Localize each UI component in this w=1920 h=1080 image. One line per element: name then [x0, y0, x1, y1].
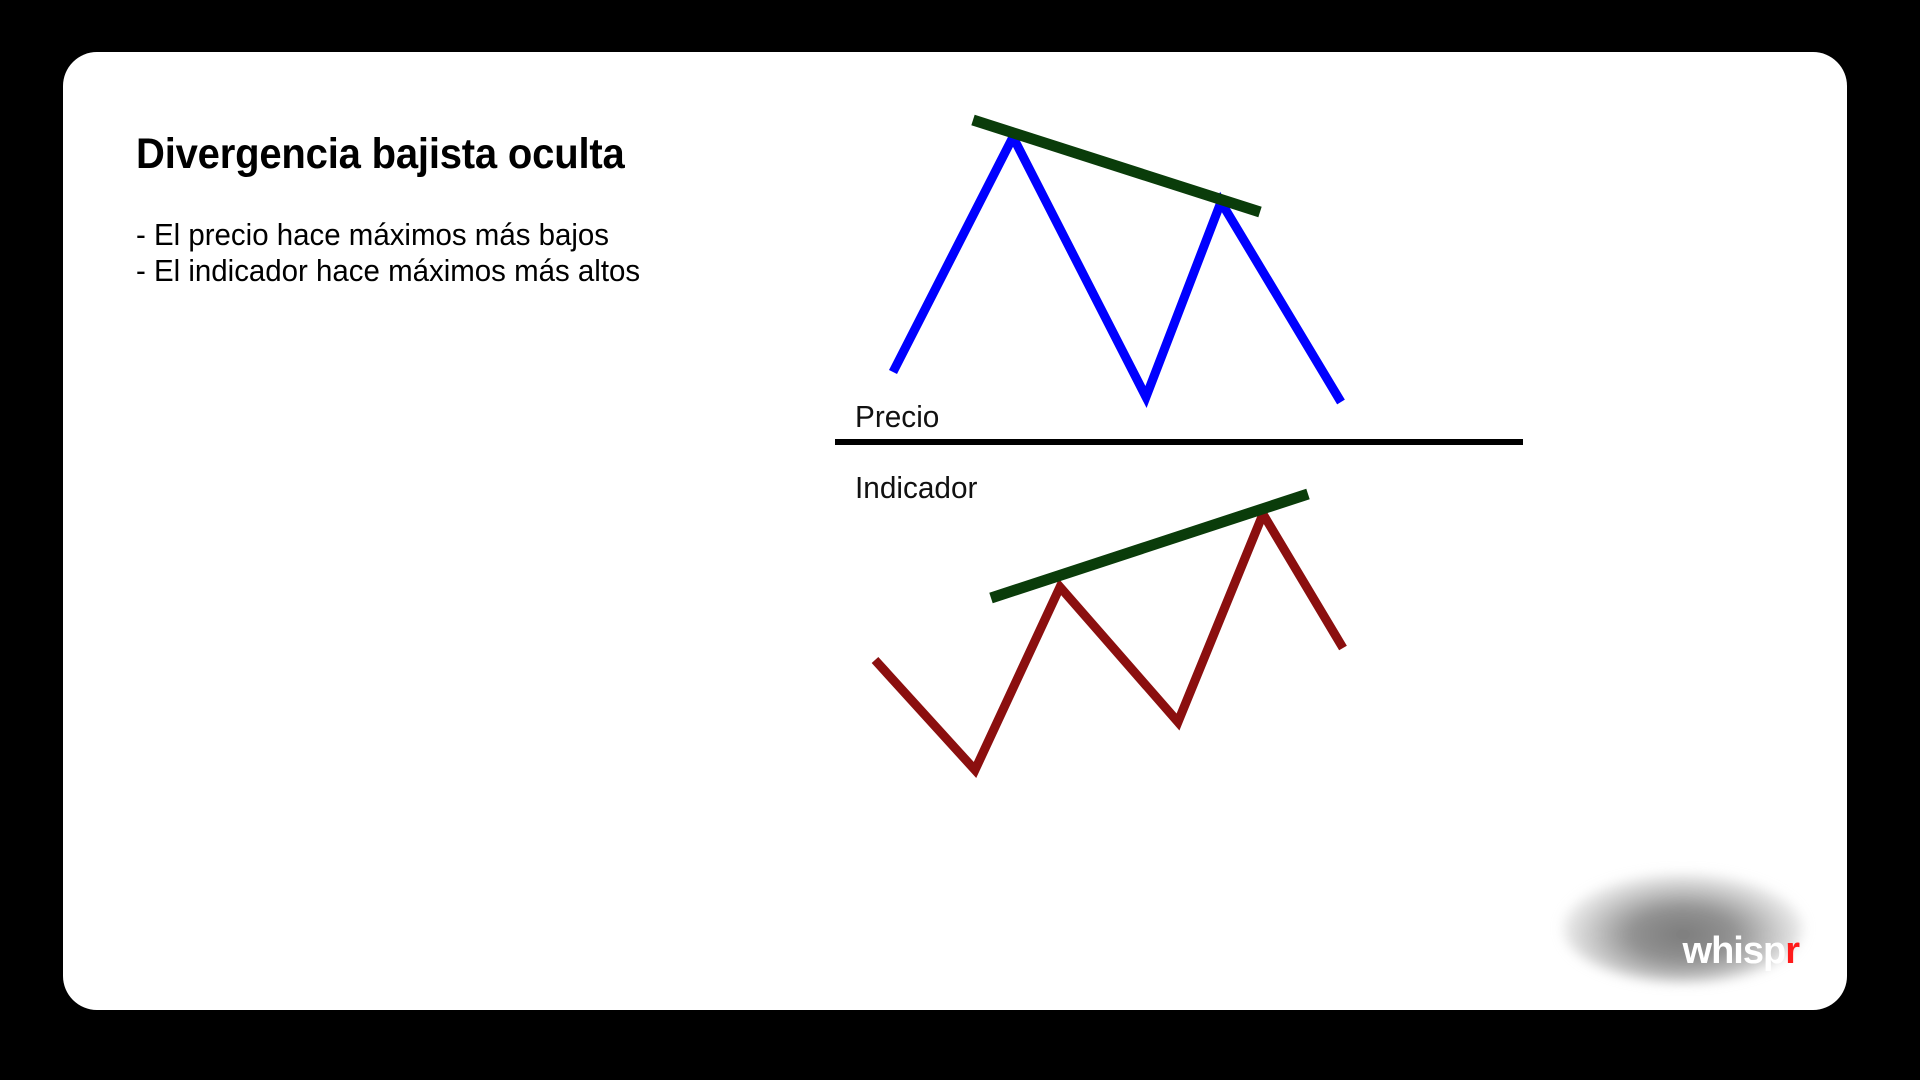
- price-trendline: [973, 120, 1260, 212]
- whispr-logo: whispr: [1553, 868, 1813, 988]
- logo-text-accent: r: [1785, 930, 1799, 972]
- price-line: [893, 137, 1341, 402]
- price-panel-label: Precio: [855, 399, 939, 435]
- divergence-chart: Precio Indicador: [763, 82, 1783, 962]
- slide-root: Divergencia bajista oculta - El precio h…: [0, 0, 1920, 1080]
- slide-card: Divergencia bajista oculta - El precio h…: [63, 52, 1847, 1010]
- logo-text-main: whisp: [1683, 930, 1786, 972]
- indicator-line: [875, 514, 1343, 770]
- page-title: Divergencia bajista oculta: [136, 132, 843, 177]
- bullet-item-price: - El precio hace máximos más bajos: [136, 217, 858, 253]
- bullet-item-indicator: - El indicador hace máximos más altos: [136, 253, 858, 289]
- logo-text: whispr: [1553, 932, 1799, 970]
- indicator-trendline: [991, 494, 1308, 598]
- chart-svg: [763, 82, 1783, 962]
- indicator-panel-label: Indicador: [855, 470, 977, 506]
